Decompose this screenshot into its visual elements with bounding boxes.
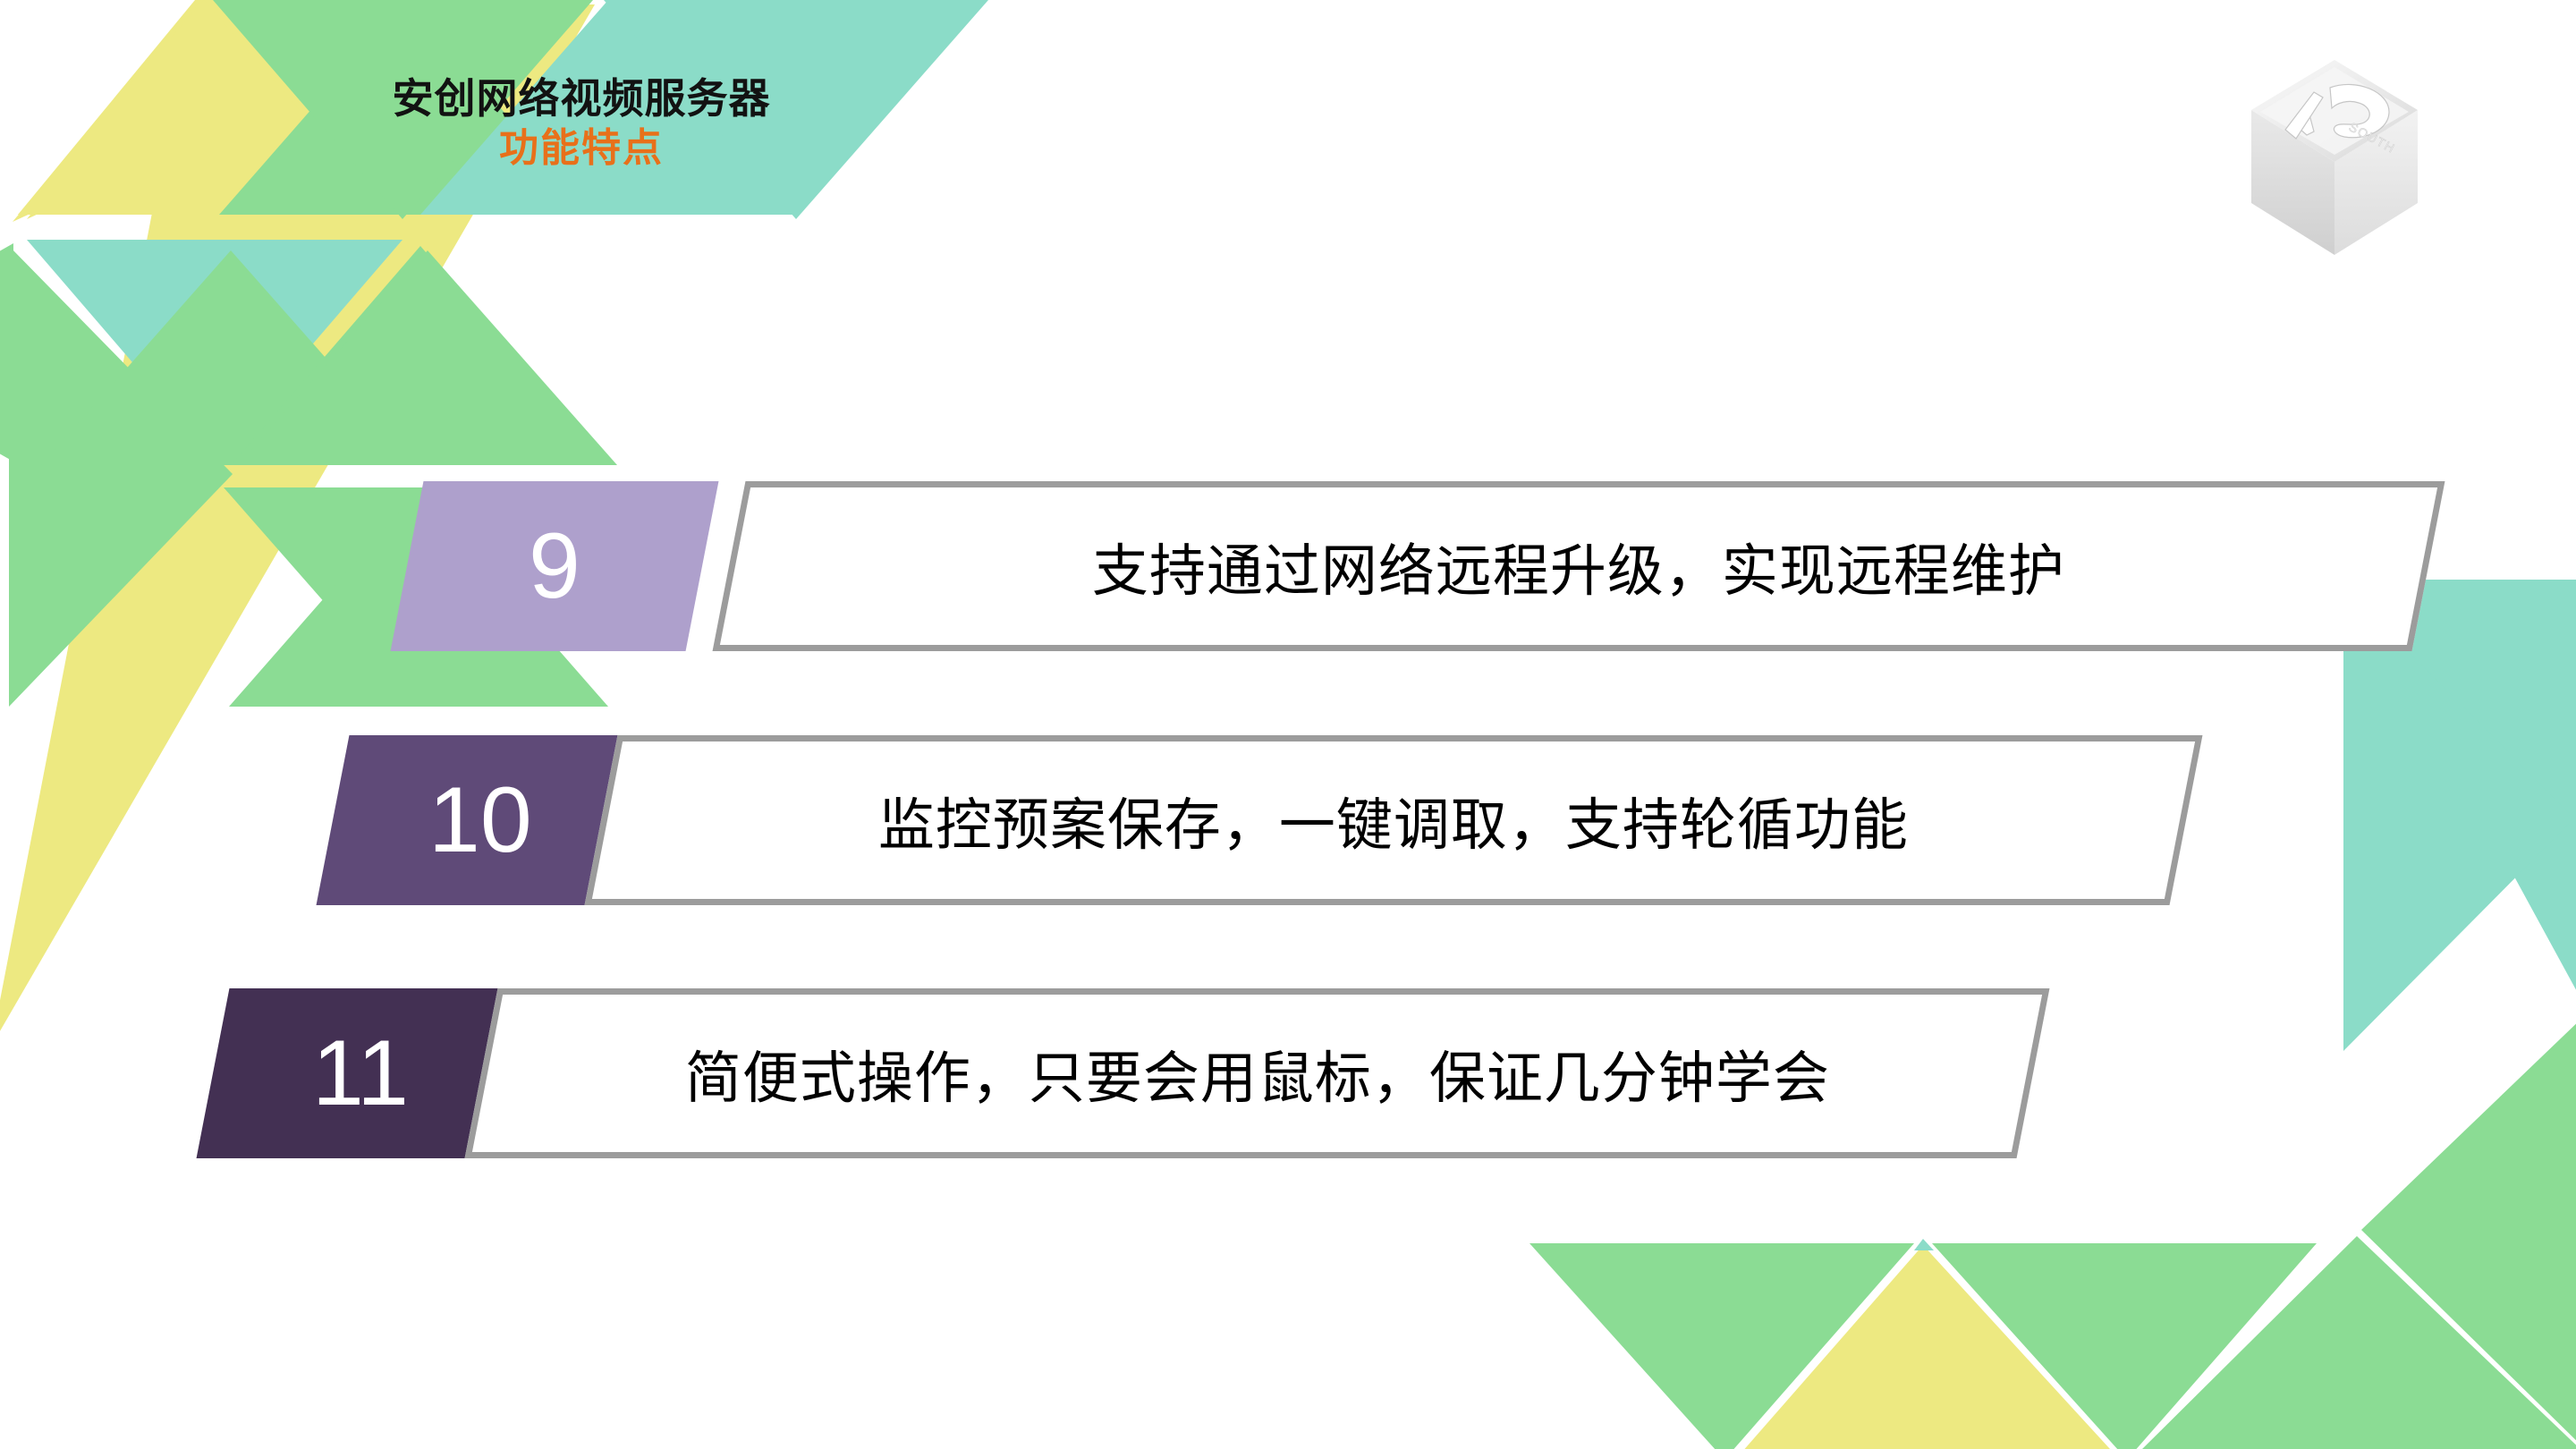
feature-text-bar[interactable]: 简便式操作，只要会用鼠标，保证几分钟学会 — [465, 988, 2050, 1158]
slide-title-block: 安创网络视频服务器 功能特点 — [295, 76, 868, 170]
feature-text: 简便式操作，只要会用鼠标，保证几分钟学会 — [685, 1033, 1830, 1114]
deco-green-3 — [0, 243, 13, 462]
feature-text-bar[interactable]: 支持通过网络远程升级，实现远程维护 — [713, 481, 2445, 651]
feature-row: 11 简便式操作，只要会用鼠标，保证几分钟学会 — [213, 988, 2033, 1158]
feature-text: 监控预案保存，一键调取，支持轮循功能 — [878, 780, 1909, 861]
feature-row: 10 监控预案保存，一键调取，支持轮循功能 — [333, 735, 2186, 905]
feature-text-bar[interactable]: 监控预案保存，一键调取，支持轮循功能 — [585, 735, 2203, 905]
deco-yellow-bottom — [1735, 1245, 2120, 1449]
deco-teal-sliver — [1914, 1239, 1934, 1250]
deco-green-right-2 — [2138, 1236, 2576, 1449]
deco-teal-2 — [27, 240, 402, 458]
deco-green-bottom-down — [1529, 1243, 1914, 1449]
presentation-slide: SOUTH 安创网络视频服务器 功能特点 9 支持通过网络远程升级，实现远程维护… — [0, 0, 2576, 1449]
feature-number: 9 — [529, 520, 580, 613]
feature-text: 支持通过网络远程升级，实现远程维护 — [1092, 526, 2065, 607]
feature-number: 10 — [428, 774, 532, 867]
feature-number-badge[interactable]: 9 — [391, 481, 719, 651]
feature-row: 9 支持通过网络远程升级，实现远程维护 — [407, 481, 2428, 651]
deco-green-bottom-right — [1932, 1243, 2317, 1449]
deco-teal-right-2 — [2343, 586, 2574, 1051]
deco-green-4 — [41, 250, 420, 465]
triangle-background-decoration — [0, 0, 2576, 1449]
deco-green-right-1 — [2361, 1015, 2576, 1449]
page-title: 安创网络视频服务器 — [295, 76, 868, 123]
triangle-yellow-up — [9, 0, 199, 219]
deco-green-6 — [238, 250, 617, 465]
ac-south-cube-logo: SOUTH — [2214, 40, 2455, 277]
deco-green-5-up — [233, 246, 608, 463]
deco-green-left-down — [9, 246, 233, 707]
page-subtitle: 功能特点 — [295, 126, 868, 170]
feature-number: 11 — [312, 1027, 409, 1120]
